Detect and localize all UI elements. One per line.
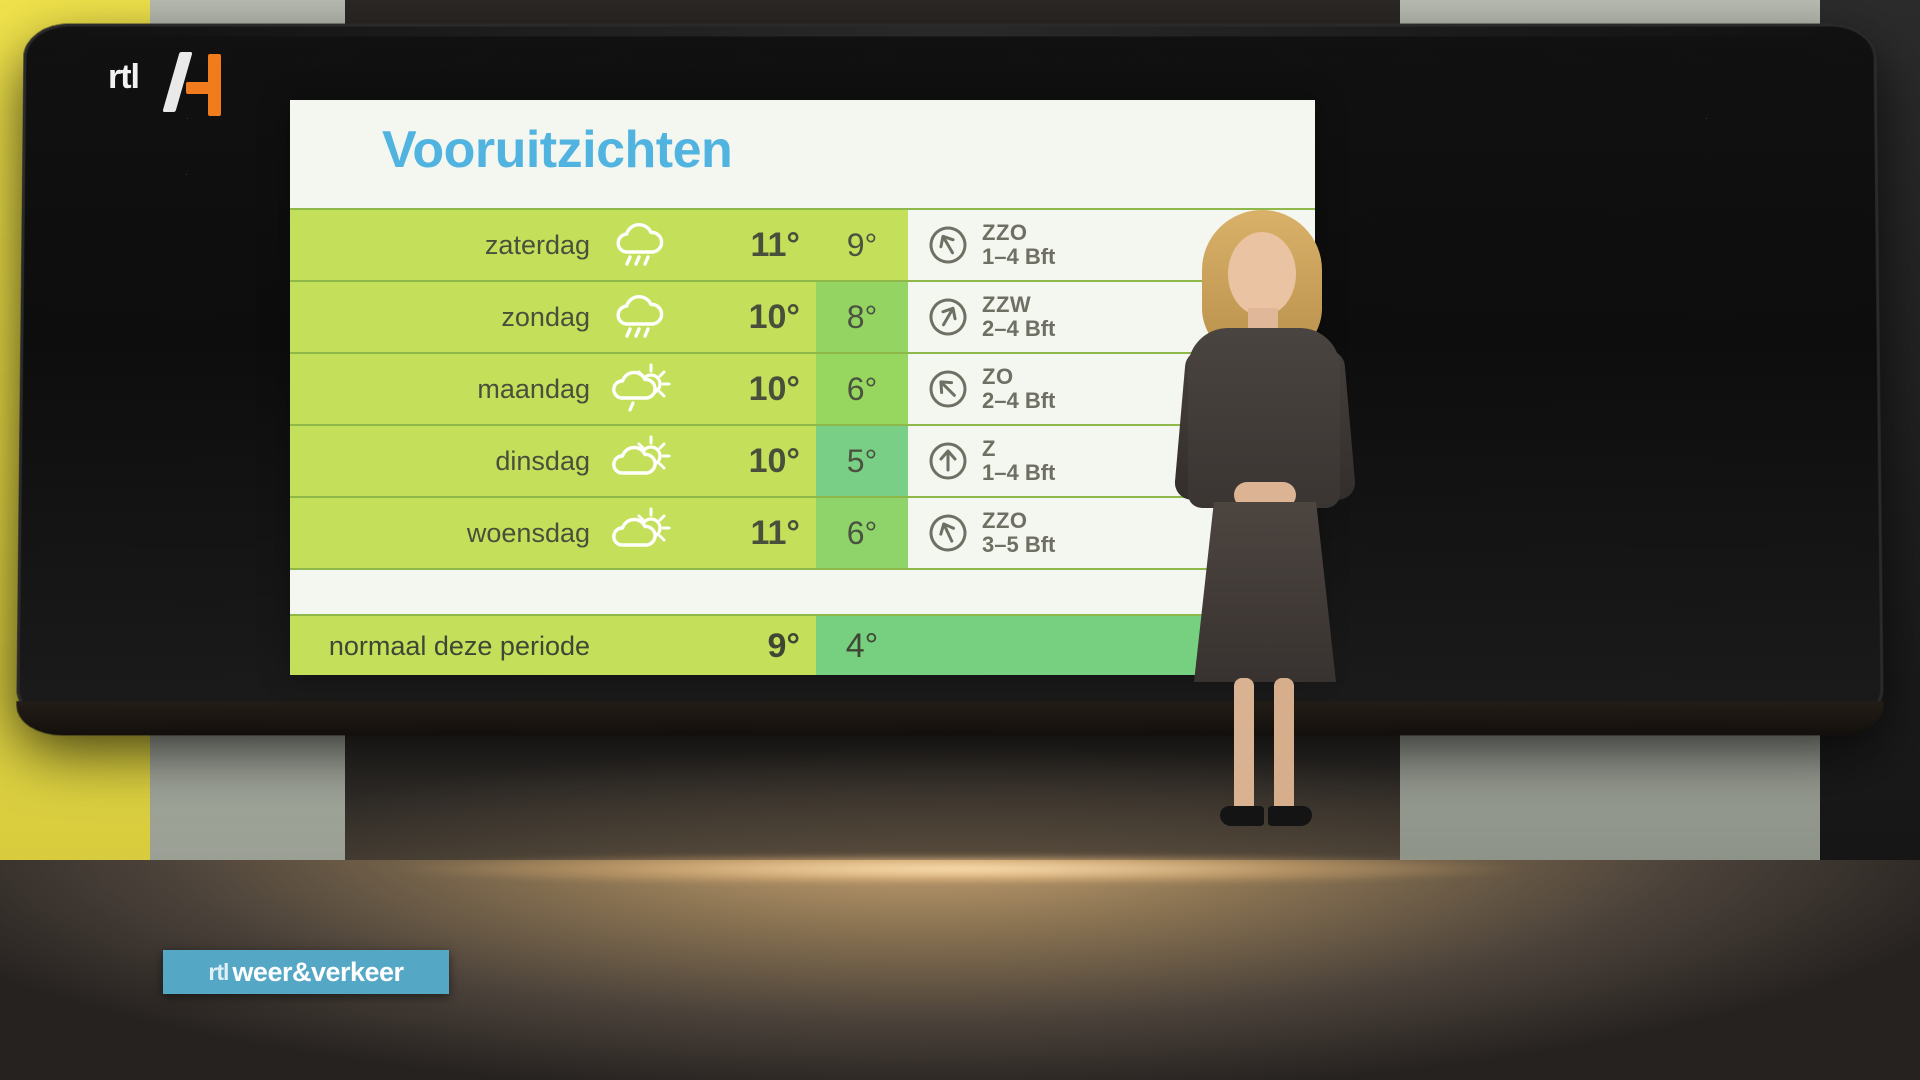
min-temp: 5° [816,425,908,497]
wind-arrow-icon [926,367,970,411]
presenter-skirt [1194,502,1336,682]
studio-scene: rtl Vooruitzichten zaterdag [0,0,1920,1080]
banner-rtl-label: rtl [208,959,228,986]
sun-cloud-icon [608,497,704,569]
min-temp: 9° [816,209,908,281]
rain-cloud-icon [608,281,704,353]
wind-direction: ZZW [982,293,1055,317]
wind-arrow-icon [926,511,970,555]
day-label: zondag [290,281,608,353]
day-label: woensdag [290,497,608,569]
sun-cloud-icon [608,425,704,497]
max-temp: 10° [704,425,816,497]
max-temp: 11° [704,209,816,281]
studio-floor-glow [120,856,1800,882]
presenter-shoe-right [1268,806,1312,826]
rtl4-logo: rtl [108,48,238,120]
normal-period-label: normaal deze periode [290,615,608,675]
rtl-logo-four-stem [208,54,221,116]
presenter-shoe-left [1220,806,1264,826]
max-temp: 11° [704,497,816,569]
wind-direction: Z [982,437,1055,461]
wind-direction: ZZO [982,221,1055,245]
bezel-sheen [61,27,1840,37]
max-temp: 10° [704,353,816,425]
max-temp: 10° [704,281,816,353]
day-label: maandag [290,353,608,425]
normal-min-temp: 4° [816,615,908,675]
day-label: zaterdag [290,209,608,281]
wind-direction: ZZO [982,509,1055,533]
rtl-logo-text: rtl [108,58,139,97]
wind-force: 2–4 Bft [982,389,1055,413]
wind-force: 2–4 Bft [982,317,1055,341]
wind-force: 1–4 Bft [982,461,1055,485]
day-label: dinsdag [290,425,608,497]
wind-arrow-icon [926,295,970,339]
presenter-top [1188,328,1340,508]
presenter-leg-right [1274,678,1294,816]
weather-presenter [1150,210,1380,850]
sun-cloud-drizzle-icon [608,353,704,425]
presenter-leg-left [1234,678,1254,816]
min-temp: 6° [816,497,908,569]
normal-max-temp: 9° [704,615,816,675]
min-temp: 6° [816,353,908,425]
wind-force: 1–4 Bft [982,245,1055,269]
bezel-rim [16,701,1884,735]
rain-cloud-icon [608,209,704,281]
wind-arrow-icon [926,439,970,483]
banner-title: weer&verkeer [232,957,403,988]
page-title: Vooruitzichten [382,120,732,180]
presenter-face [1228,232,1296,316]
lower-third-banner: rtl weer&verkeer [163,950,449,994]
min-temp: 8° [816,281,908,353]
wind-arrow-icon [926,223,970,267]
normal-icon-cell [608,615,704,675]
wind-direction: ZO [982,365,1055,389]
wind-force: 3–5 Bft [982,533,1055,557]
